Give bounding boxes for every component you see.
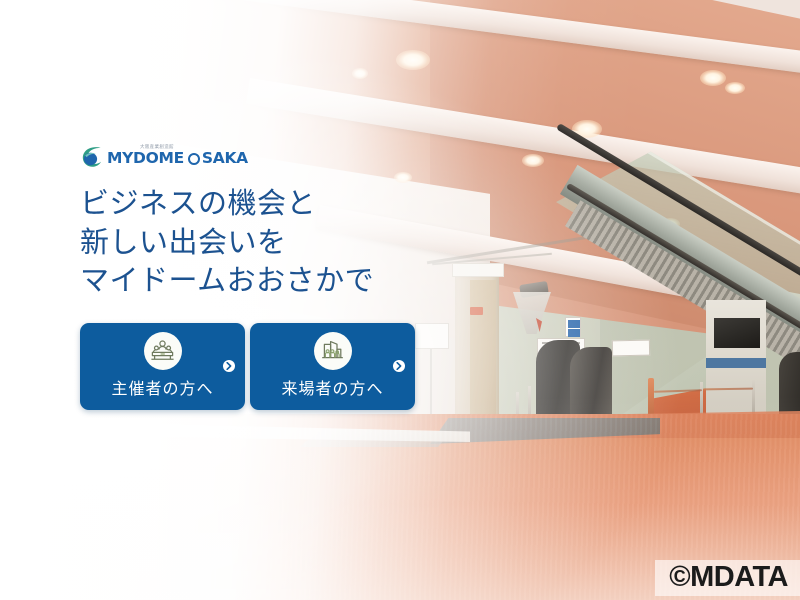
logo-wordmark: 大阪産業創造館 MYDOME SAKA (107, 148, 248, 167)
building-visitors-icon (314, 332, 352, 370)
hero-cta-group: 主催者の方へ (80, 323, 500, 410)
logo-o-ring-icon (188, 153, 200, 165)
logo-supertext: 大阪産業創造館 (140, 144, 174, 150)
cta-for-visitors[interactable]: 来場者の方へ (250, 323, 415, 410)
leaf-circle-icon (80, 146, 103, 168)
hero-content: 大阪産業創造館 MYDOME SAKA ビジネスの機会と 新しい出会いを マイド… (80, 146, 500, 410)
chevron-right-icon (393, 360, 405, 372)
logo-word-mydome: MYDOME (107, 151, 184, 167)
watermark: ©MDATA (655, 560, 800, 596)
chevron-right-icon (223, 360, 235, 372)
headline-line-3: マイドームおおさかで (80, 262, 500, 301)
mydome-osaka-logo[interactable]: 大阪産業創造館 MYDOME SAKA (80, 146, 500, 168)
hero-banner: 大阪産業創造館 MYDOME SAKA ビジネスの機会と 新しい出会いを マイド… (0, 0, 800, 600)
presenter-podium-icon (144, 332, 182, 370)
logo-word-saka: SAKA (202, 151, 248, 167)
headline-line-2: 新しい出会いを (80, 224, 500, 263)
logo-word: MYDOME SAKA (107, 151, 248, 167)
cta-for-organizers[interactable]: 主催者の方へ (80, 323, 245, 410)
hero-headline: ビジネスの機会と 新しい出会いを マイドームおおさかで (80, 185, 500, 301)
headline-line-1: ビジネスの機会と (80, 185, 500, 224)
cta-label: 来場者の方へ (281, 375, 383, 399)
cta-label: 主催者の方へ (111, 375, 213, 399)
